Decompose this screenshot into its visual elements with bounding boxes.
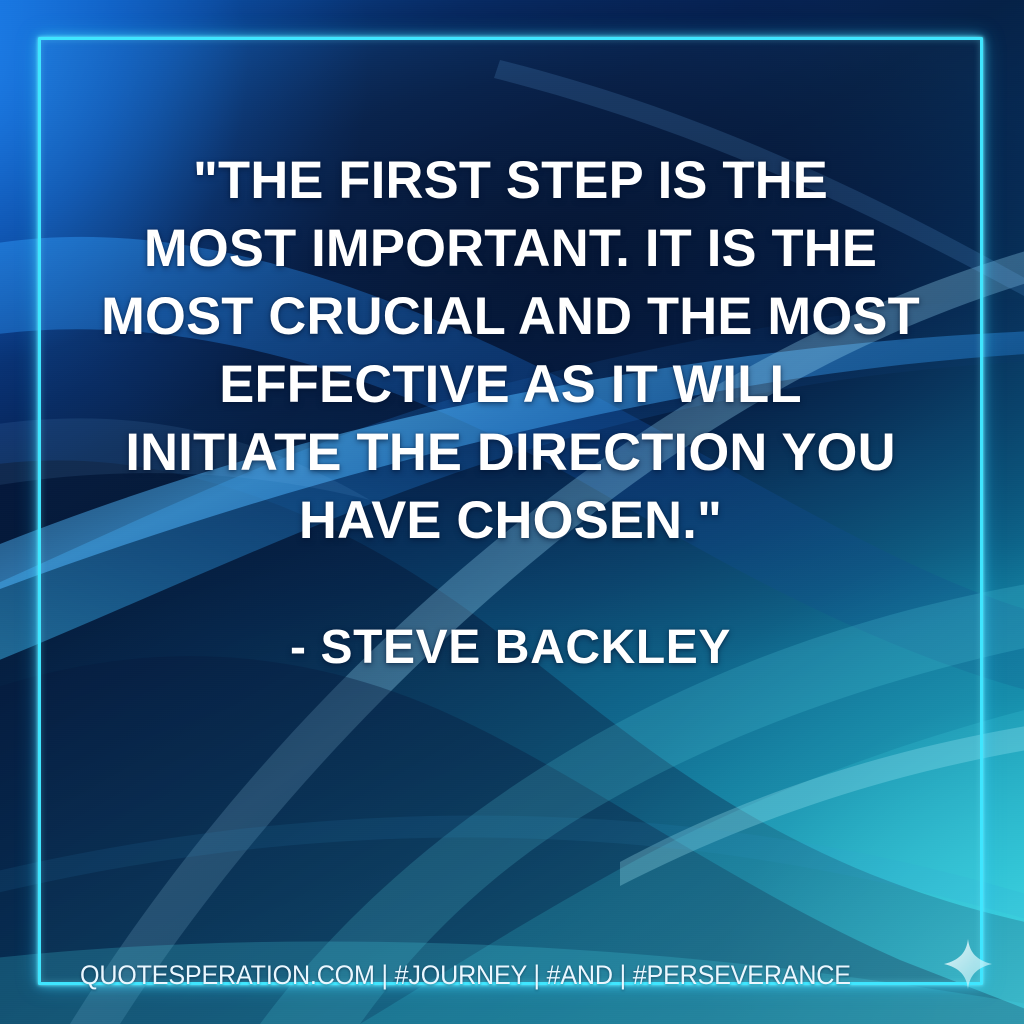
footer-text: QUOTESPERATION.COM | #JOURNEY | #AND | #… [80,960,851,990]
quote-block: "THE FIRST STEP IS THE MOST IMPORTANT. I… [38,147,983,677]
quote-text: "THE FIRST STEP IS THE MOST IMPORTANT. I… [56,147,965,555]
card-content: "THE FIRST STEP IS THE MOST IMPORTANT. I… [38,37,983,985]
footer: QUOTESPERATION.COM | #JOURNEY | #AND | #… [80,960,909,990]
quote-card: "THE FIRST STEP IS THE MOST IMPORTANT. I… [0,0,1024,1024]
quote-attribution: - STEVE BACKLEY [56,619,965,677]
